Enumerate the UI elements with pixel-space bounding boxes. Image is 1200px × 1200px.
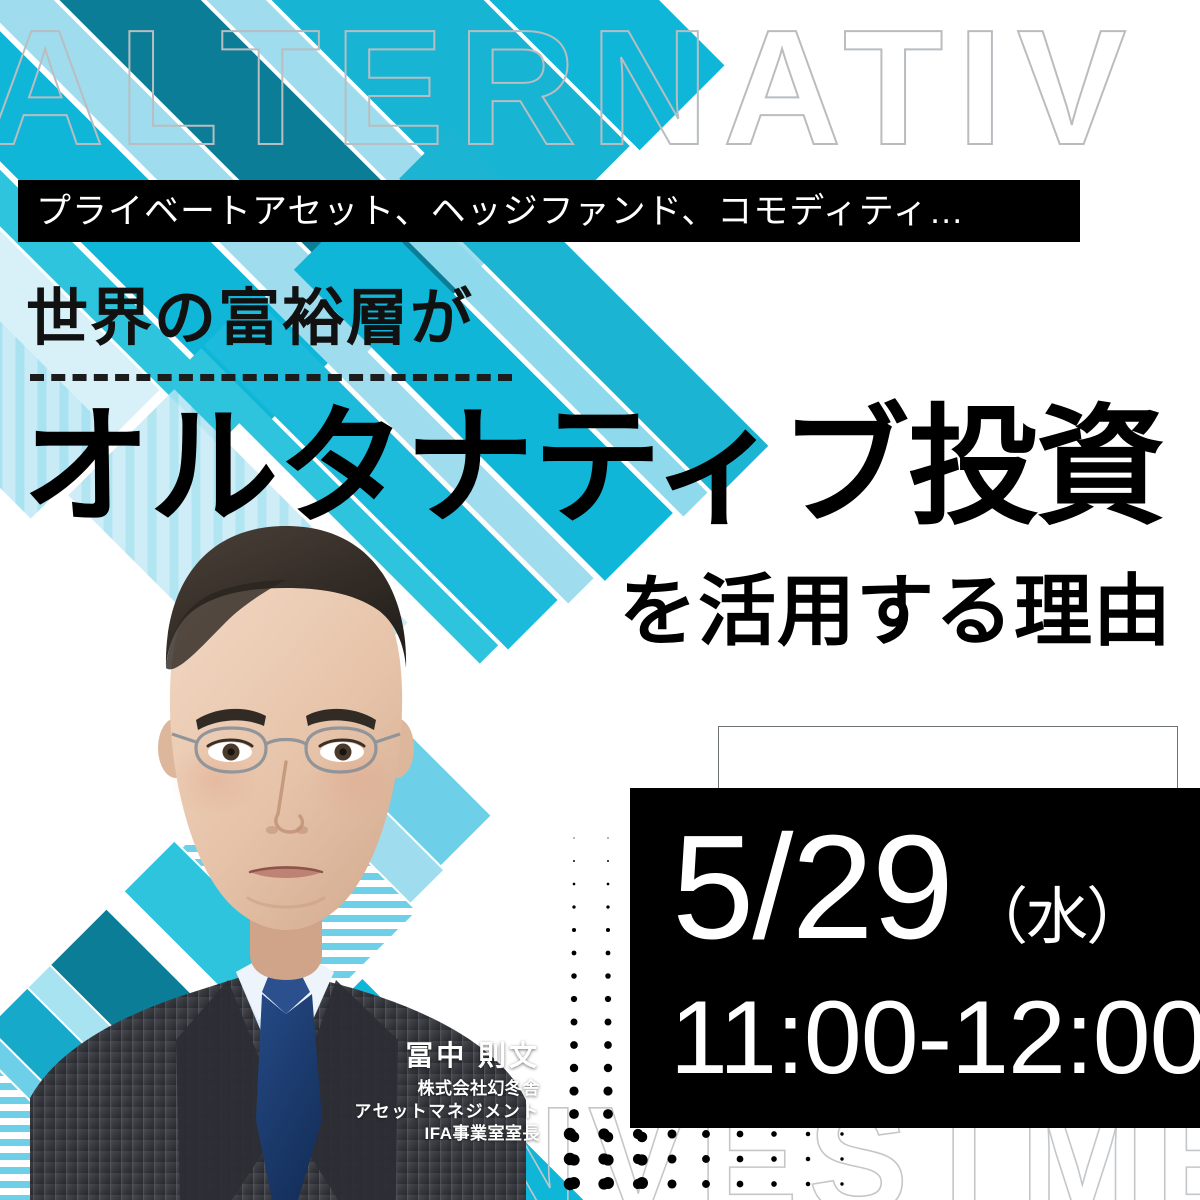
- speaker-caption: 冨中 則文 株式会社幻冬舎 アセットマネジメント IFA事業室室長: [300, 1040, 540, 1146]
- speaker-name: 冨中 則文: [300, 1040, 540, 1072]
- kicker-bar: プライベートアセット、ヘッジファンド、コモディティ…: [18, 180, 1080, 242]
- halftone-dot-field-horizontal: [556, 1120, 856, 1200]
- event-datetime-box: 5/29 （水） 11:00-12:00: [630, 788, 1200, 1128]
- background-wordmark-top: ALTERNATIV: [0, 0, 1140, 182]
- headline-line-1: 世界の富裕層が: [26, 288, 474, 350]
- headline-line-3: を活用する理由: [619, 572, 1172, 650]
- event-weekday: （水）: [966, 887, 1146, 949]
- event-time: 11:00-12:00: [670, 986, 1200, 1090]
- event-date: 5/29: [672, 814, 952, 962]
- event-date-row: 5/29 （水）: [672, 814, 1146, 962]
- speaker-affiliation-line-1: 株式会社幻冬舎: [300, 1078, 540, 1100]
- speaker-affiliation-line-2: アセットマネジメント: [300, 1101, 540, 1123]
- seminar-banner: ALTERNATIV INVESTMENT プライベートアセット、ヘッジファンド…: [0, 0, 1200, 1200]
- kicker-text: プライベートアセット、ヘッジファンド、コモディティ…: [36, 194, 965, 229]
- headline-dashed-divider: [30, 374, 512, 381]
- speaker-affiliation-line-3: IFA事業室室長: [300, 1123, 540, 1145]
- headline-line-2-emphasis: オルタナティブ投資: [22, 402, 1164, 532]
